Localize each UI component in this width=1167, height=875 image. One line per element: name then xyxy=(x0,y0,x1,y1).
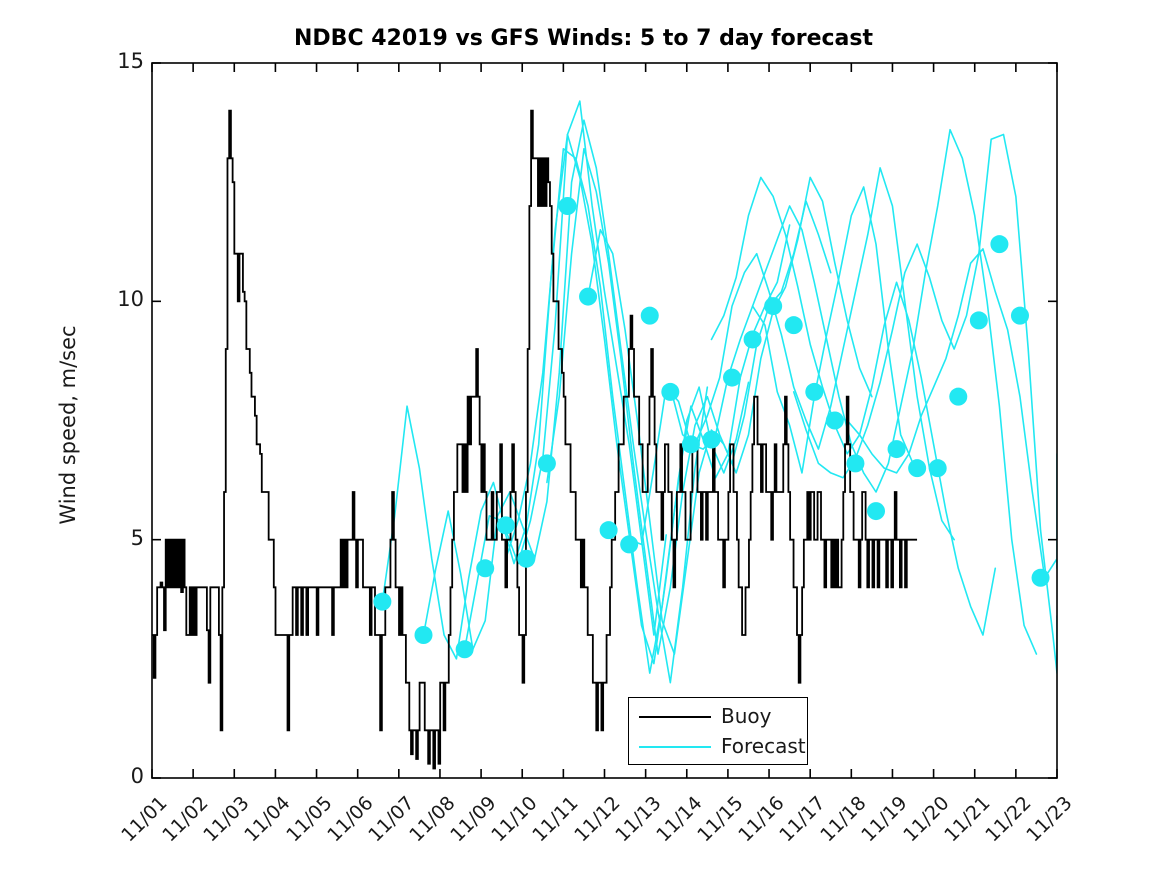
legend-swatch-buoy xyxy=(639,716,711,718)
forecast-marker-point xyxy=(846,454,864,472)
forecast-marker-point xyxy=(805,383,823,401)
forecast-marker-point xyxy=(415,626,433,644)
forecast-marker-point xyxy=(661,383,679,401)
forecast-marker-point xyxy=(538,454,556,472)
forecast-trace-7 xyxy=(629,187,913,545)
forecast-marker-point xyxy=(0,550,9,568)
forecast-trace-3 xyxy=(465,149,749,673)
forecast-marker-point xyxy=(908,459,926,477)
forecast-marker-point xyxy=(785,316,803,334)
forecast-marker-point xyxy=(888,440,906,458)
plot-area xyxy=(0,0,1167,875)
buoy-trace xyxy=(152,111,917,769)
forecast-marker-point xyxy=(723,369,741,387)
forecast-marker-point xyxy=(970,311,988,329)
forecast-marker-point xyxy=(990,235,1008,253)
forecast-marker-point xyxy=(456,640,474,658)
forecast-marker-point xyxy=(1011,307,1029,325)
forecast-marker-point xyxy=(373,593,391,611)
forecast-marker-point xyxy=(620,535,638,553)
legend-label-forecast: Forecast xyxy=(721,734,806,758)
forecast-marker-point xyxy=(579,288,597,306)
legend-swatch-forecast xyxy=(639,746,711,748)
forecast-marker-point xyxy=(826,412,844,430)
forecast-marker-point xyxy=(867,502,885,520)
forecast-marker-point xyxy=(558,197,576,215)
forecast-marker-point xyxy=(764,297,782,315)
forecast-marker-point xyxy=(497,516,515,534)
forecast-marker-point xyxy=(600,521,618,539)
legend-item-buoy: Buoy xyxy=(629,702,809,732)
forecast-marker-point xyxy=(1032,569,1050,587)
figure-canvas: NDBC 42019 vs GFS Winds: 5 to 7 day fore… xyxy=(0,0,1167,875)
chart-legend: Buoy Forecast xyxy=(628,697,808,765)
forecast-marker-point xyxy=(641,307,659,325)
forecast-marker-point xyxy=(517,550,535,568)
forecast-marker-point xyxy=(682,435,700,453)
forecast-marker-point xyxy=(949,388,967,406)
forecast-marker-point xyxy=(476,559,494,577)
forecast-marker-point xyxy=(929,459,947,477)
legend-label-buoy: Buoy xyxy=(721,704,771,728)
forecast-trace-5 xyxy=(547,149,831,654)
forecast-marker-point xyxy=(702,431,720,449)
legend-item-forecast: Forecast xyxy=(629,732,809,762)
forecast-marker-point xyxy=(744,330,762,348)
